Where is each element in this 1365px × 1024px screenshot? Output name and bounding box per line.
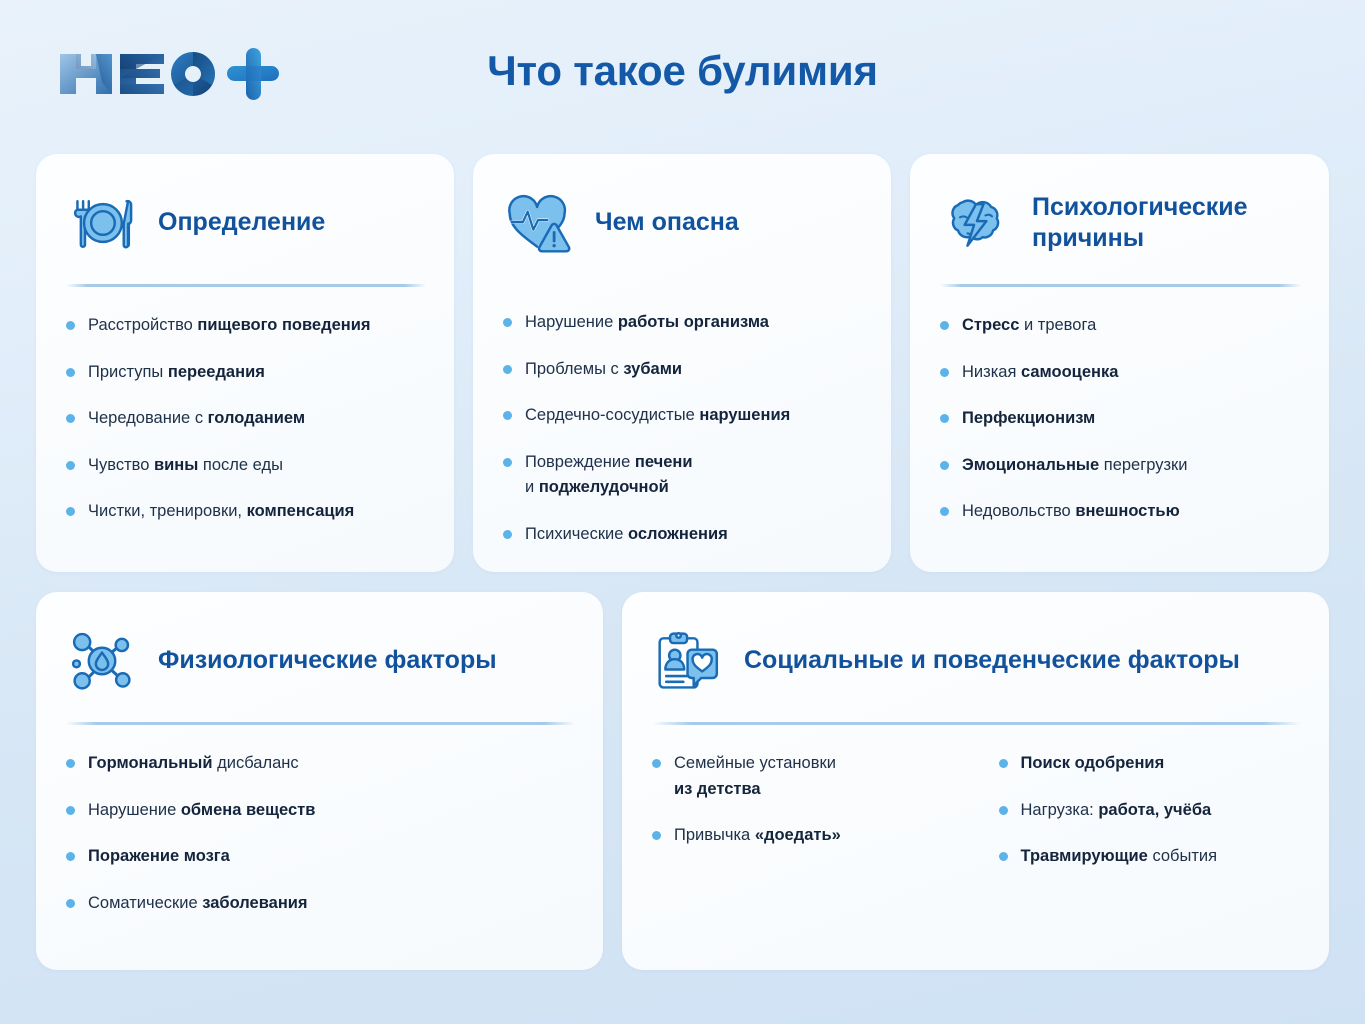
- clipboard-person-heart-icon: [652, 625, 724, 697]
- list-item: Стресс и тревога: [940, 313, 1301, 339]
- bullet-list: Гормональный дисбаланс Нарушение обмена …: [66, 751, 575, 944]
- card-title: Определение: [158, 207, 325, 239]
- bullet-dot: [503, 411, 512, 420]
- page-header: Что такое булимия: [0, 0, 1365, 150]
- bullet-text: Недовольство внешностью: [962, 499, 1180, 525]
- bullet-text: Психические осложнения: [525, 522, 728, 548]
- brain-lightning-icon: [940, 187, 1012, 259]
- molecule-droplet-icon: [66, 625, 138, 697]
- bullet-text: Низкая самооценка: [962, 360, 1118, 386]
- card-divider: [940, 284, 1301, 287]
- list-item: Повреждение печении поджелудочной: [503, 450, 863, 501]
- bullet-text: Проблемы с зубами: [525, 357, 682, 383]
- bullet-list: Семейные установкииз детства Привычка «д…: [652, 751, 1301, 944]
- bullet-text: Нагрузка: работа, учёба: [1021, 798, 1212, 824]
- list-item: Нарушение обмена веществ: [66, 798, 575, 824]
- card-title: Социальные и поведенческие факторы: [744, 645, 1240, 677]
- list-item: Поиск одобрения: [999, 751, 1302, 777]
- list-item: Чистки, тренировки, компенсация: [66, 499, 426, 525]
- card-header: Чем опасна: [503, 180, 863, 266]
- card-social-behavioral-factors[interactable]: Социальные и поведенческие факторы Семей…: [622, 592, 1329, 970]
- bullet-text: Чистки, тренировки, компенсация: [88, 499, 354, 525]
- list-item: Психические осложнения: [503, 522, 863, 548]
- bullet-text: Поражение мозга: [88, 844, 230, 870]
- list-item: Семейные установкииз детства: [652, 751, 955, 802]
- list-item: Соматические заболевания: [66, 891, 575, 917]
- list-item: Гормональный дисбаланс: [66, 751, 575, 777]
- heart-pulse-warning-icon: [503, 187, 575, 259]
- card-divider: [66, 722, 575, 725]
- list-item: Сердечно-сосудистые нарушения: [503, 403, 863, 429]
- bullet-text: Приступы переедания: [88, 360, 265, 386]
- bullet-text: Чувство вины после еды: [88, 453, 283, 479]
- list-item: Нагрузка: работа, учёба: [999, 798, 1302, 824]
- bullet-dot: [66, 759, 75, 768]
- card-header: Психологические причины: [940, 180, 1301, 266]
- list-item: Нарушение работы организма: [503, 310, 863, 336]
- bullet-dot: [503, 530, 512, 539]
- bullet-text: Эмоциональные перегрузки: [962, 453, 1188, 479]
- bullet-dot: [940, 461, 949, 470]
- bullet-dot: [503, 365, 512, 374]
- bullet-dot: [999, 759, 1008, 768]
- bullet-dot: [503, 318, 512, 327]
- card-definition[interactable]: Определение Расстройство пищевого поведе…: [36, 154, 454, 572]
- bullet-text: Чередование с голоданием: [88, 406, 305, 432]
- list-item: Чувство вины после еды: [66, 453, 426, 479]
- bullet-dot: [652, 831, 661, 840]
- card-title: Чем опасна: [595, 207, 739, 239]
- bullet-text: Привычка «доедать»: [674, 823, 841, 849]
- bullet-dot: [66, 414, 75, 423]
- list-item: Чередование с голоданием: [66, 406, 426, 432]
- bullet-dot: [66, 852, 75, 861]
- bullet-text: Гормональный дисбаланс: [88, 751, 299, 777]
- list-item: Поражение мозга: [66, 844, 575, 870]
- bullet-dot: [940, 321, 949, 330]
- list-item: Приступы переедания: [66, 360, 426, 386]
- card-psychological-causes[interactable]: Психологические причины Стресс и тревога…: [910, 154, 1329, 572]
- bullet-dot: [66, 806, 75, 815]
- list-item: Расстройство пищевого поведения: [66, 313, 426, 339]
- card-title: Психологические причины: [1032, 192, 1301, 255]
- bullet-text: Соматические заболевания: [88, 891, 308, 917]
- bullet-dot: [999, 806, 1008, 815]
- bullet-dot: [66, 321, 75, 330]
- bullet-text: Нарушение работы организма: [525, 310, 769, 336]
- bullet-text: Нарушение обмена веществ: [88, 798, 315, 824]
- bullet-dot: [503, 458, 512, 467]
- bullet-text: Перфекционизм: [962, 406, 1095, 432]
- list-item: Проблемы с зубами: [503, 357, 863, 383]
- bullet-dot: [66, 899, 75, 908]
- list-item: Перфекционизм: [940, 406, 1301, 432]
- bullet-dot: [940, 507, 949, 516]
- bullet-list: Расстройство пищевого поведения Приступы…: [66, 313, 426, 546]
- bullet-text: Расстройство пищевого поведения: [88, 313, 371, 339]
- bullet-text: Травмирующие события: [1021, 844, 1218, 870]
- card-header: Определение: [66, 180, 426, 266]
- bullet-text: Сердечно-сосудистые нарушения: [525, 403, 790, 429]
- card-header: Физиологические факторы: [66, 618, 575, 704]
- bullet-dot: [66, 507, 75, 516]
- bullet-dot: [652, 759, 661, 768]
- bullet-dot: [940, 414, 949, 423]
- bullet-list: Стресс и тревога Низкая самооценка Перфе…: [940, 313, 1301, 546]
- bullet-text: Семейные установкииз детства: [674, 751, 836, 802]
- card-header: Социальные и поведенческие факторы: [652, 618, 1301, 704]
- list-item: Привычка «доедать»: [652, 823, 955, 849]
- card-title: Физиологические факторы: [158, 645, 497, 677]
- plate-fork-knife-icon: [66, 187, 138, 259]
- bullet-text: Повреждение печении поджелудочной: [525, 450, 693, 501]
- bullet-dot: [940, 368, 949, 377]
- card-danger[interactable]: Чем опасна Нарушение работы организма Пр…: [473, 154, 891, 572]
- bullet-list: Нарушение работы организма Проблемы с зу…: [503, 310, 863, 568]
- bullet-dot: [66, 368, 75, 377]
- list-item: Эмоциональные перегрузки: [940, 453, 1301, 479]
- cards-grid: Определение Расстройство пищевого поведе…: [36, 154, 1329, 970]
- cards-row-bottom: Физиологические факторы Гормональный дис…: [36, 592, 1329, 970]
- bullet-dot: [66, 461, 75, 470]
- page-title: Что такое булимия: [0, 47, 1365, 95]
- bullet-text: Стресс и тревога: [962, 313, 1096, 339]
- bullet-text: Поиск одобрения: [1021, 751, 1165, 777]
- card-physiological-factors[interactable]: Физиологические факторы Гормональный дис…: [36, 592, 603, 970]
- cards-row-top: Определение Расстройство пищевого поведе…: [36, 154, 1329, 572]
- card-divider: [652, 722, 1301, 725]
- card-divider: [66, 284, 426, 287]
- bullet-dot: [999, 852, 1008, 861]
- list-item: Низкая самооценка: [940, 360, 1301, 386]
- list-item: Недовольство внешностью: [940, 499, 1301, 525]
- list-item: Травмирующие события: [999, 844, 1302, 870]
